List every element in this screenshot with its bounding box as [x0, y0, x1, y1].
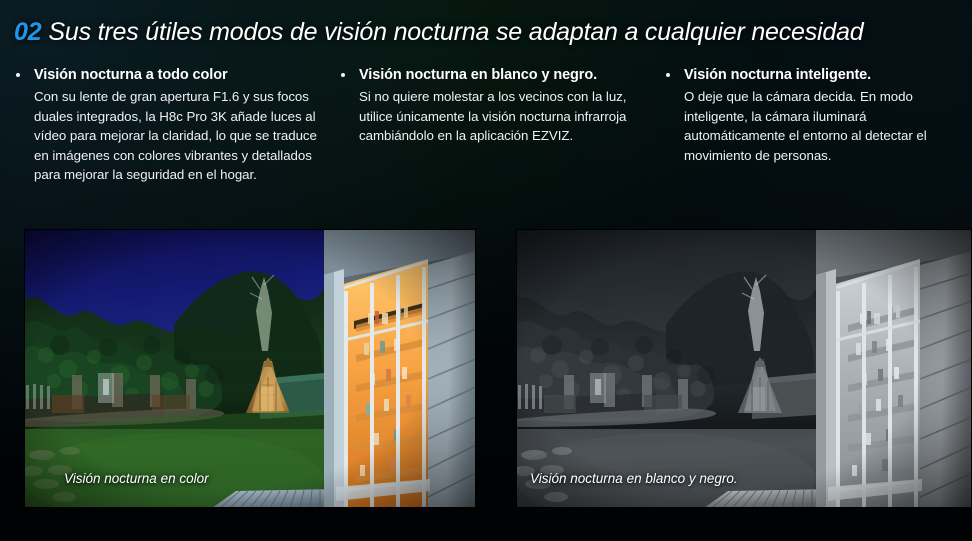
dot-bullet-icon: [666, 73, 670, 77]
bullet-item: Visión nocturna a todo color Con su lent…: [12, 66, 332, 185]
feature-column-bw: Visión nocturna en blanco y negro. Si no…: [337, 66, 655, 146]
feature-column-color: Visión nocturna a todo color Con su lent…: [12, 66, 332, 185]
night-vision-color-photo: Visión nocturna en color: [24, 229, 476, 508]
section-title-text: Sus tres útiles modos de visión nocturna…: [48, 18, 863, 46]
feature-body: Si no quiere molestar a los vecinos con …: [359, 87, 655, 146]
feature-title: Visión nocturna inteligente.: [684, 66, 967, 84]
feature-column-smart: Visión nocturna inteligente. O deje que …: [662, 66, 967, 165]
color-scene-illustration: [24, 229, 476, 508]
slide-root: 02Sus tres útiles modos de visión noctur…: [0, 0, 972, 541]
page-title: 02Sus tres útiles modos de visión noctur…: [14, 18, 864, 47]
section-number: 02: [14, 18, 41, 46]
feature-title: Visión nocturna en blanco y negro.: [359, 66, 655, 84]
feature-title: Visión nocturna a todo color: [34, 66, 332, 84]
night-vision-bw-photo: Visión nocturna en blanco y negro.: [516, 229, 972, 508]
feature-body: Con su lente de gran apertura F1.6 y sus…: [34, 87, 332, 185]
photo-caption-bw: Visión nocturna en blanco y negro.: [530, 471, 738, 486]
feature-body: O deje que la cámara decida. En modo int…: [684, 87, 967, 165]
dot-bullet-icon: [16, 73, 20, 77]
feature-columns: Visión nocturna a todo color Con su lent…: [0, 66, 972, 216]
bullet-item: Visión nocturna inteligente. O deje que …: [662, 66, 967, 165]
dot-bullet-icon: [341, 73, 345, 77]
bullet-item: Visión nocturna en blanco y negro. Si no…: [337, 66, 655, 146]
bw-scene-illustration: [516, 229, 972, 508]
photo-caption-color: Visión nocturna en color: [64, 471, 209, 486]
